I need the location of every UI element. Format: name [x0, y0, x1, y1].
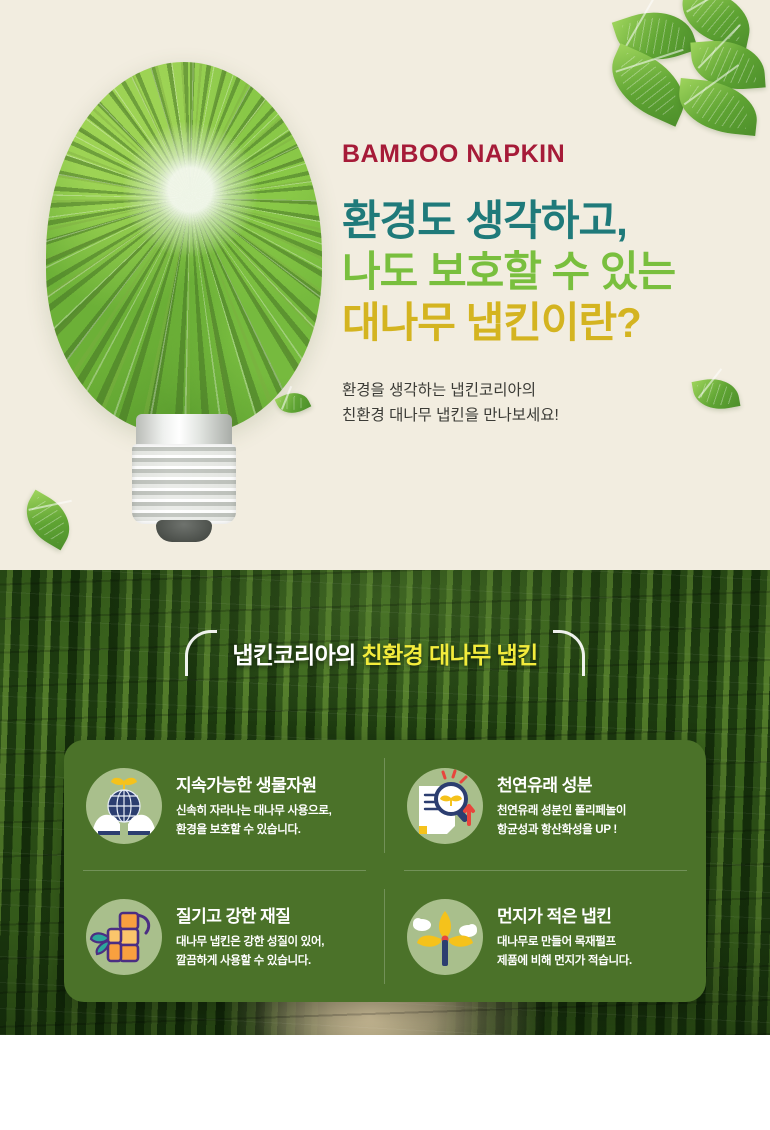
- hero-eyebrow: BAMBOO NAPKIN: [342, 140, 742, 169]
- dust-free-plant-icon: [407, 899, 483, 975]
- hero-headline: 환경도 생각하고, 나도 보호할 수 있는 대나무 냅킨이란?: [342, 195, 742, 349]
- globe-in-hands-icon: [86, 768, 162, 844]
- feature-card-text: 천연유래 성분 천연유래 성분인 폴리페놀이 항균성과 항산화성을 UP !: [497, 771, 692, 840]
- bamboo-forest-image: [46, 62, 322, 434]
- lightbulb-illustration: [28, 62, 328, 532]
- feature-card: 질기고 강한 재질 대나무 냅킨은 강한 성질이 있어, 깔끔하게 사용할 수 …: [64, 871, 385, 1002]
- leaf-branch-decoration: [596, 0, 770, 144]
- feature-card: 먼지가 적은 냅킨 대나무로 만들어 목재펄프 제품에 비해 먼지가 적습니다.: [385, 871, 706, 1002]
- bamboo-stalk-icon: [86, 899, 162, 975]
- feature-card-title: 천연유래 성분: [497, 771, 692, 796]
- bottom-white-area: [0, 1035, 770, 1130]
- leaf-icon: [676, 78, 761, 136]
- lightbulb-glass: [46, 62, 322, 434]
- lightbulb-screw-base: [132, 444, 236, 524]
- feature-card-title: 먼지가 적은 냅킨: [497, 902, 692, 927]
- magnifier-document-icon: [407, 768, 483, 844]
- hero-subtitle-line-2: 친환경 대나무 냅킨을 만나보세요!: [342, 404, 742, 429]
- feature-card-title: 질기고 강한 재질: [176, 902, 371, 927]
- feature-card-title: 지속가능한 생물자원: [176, 771, 371, 796]
- promo-page: BAMBOO NAPKIN 환경도 생각하고, 나도 보호할 수 있는 대나무 …: [0, 0, 770, 1130]
- hero-text-block: BAMBOO NAPKIN 환경도 생각하고, 나도 보호할 수 있는 대나무 …: [342, 140, 742, 428]
- feature-panel: 지속가능한 생물자원 신속히 자라나는 대나무 사용으로, 환경을 보호할 수 …: [64, 740, 706, 1002]
- section-title: 냅킨코리아의 친환경 대나무 냅킨: [185, 636, 585, 670]
- feature-card-desc-2: 깔끔하게 사용할 수 있습니다.: [176, 952, 371, 971]
- feature-card-desc-2: 제품에 비해 먼지가 적습니다.: [497, 952, 692, 971]
- leaf-icon: [15, 490, 80, 551]
- feature-card-text: 지속가능한 생물자원 신속히 자라나는 대나무 사용으로, 환경을 보호할 수 …: [176, 771, 371, 840]
- feature-card-desc-1: 천연유래 성분인 폴리페놀이: [497, 802, 692, 821]
- section-title-plain: 냅킨코리아의: [232, 642, 355, 668]
- feature-card: 천연유래 성분 천연유래 성분인 폴리페놀이 항균성과 항산화성을 UP !: [385, 740, 706, 871]
- lightbulb-contact-tip: [156, 520, 212, 542]
- feature-card: 지속가능한 생물자원 신속히 자라나는 대나무 사용으로, 환경을 보호할 수 …: [64, 740, 385, 871]
- hero-section: BAMBOO NAPKIN 환경도 생각하고, 나도 보호할 수 있는 대나무 …: [0, 0, 770, 570]
- feature-card-desc-1: 신속히 자라나는 대나무 사용으로,: [176, 802, 371, 821]
- feature-card-desc-1: 대나무로 만들어 목재펄프: [497, 933, 692, 952]
- feature-card-desc-2: 환경을 보호할 수 있습니다.: [176, 821, 371, 840]
- section-title-highlight: 친환경 대나무 냅킨: [362, 642, 538, 668]
- hero-subtitle: 환경을 생각하는 냅킨코리아의 친환경 대나무 냅킨을 만나보세요!: [342, 379, 742, 429]
- feature-card-text: 먼지가 적은 냅킨 대나무로 만들어 목재펄프 제품에 비해 먼지가 적습니다.: [497, 902, 692, 971]
- feature-card-desc-1: 대나무 냅킨은 강한 성질이 있어,: [176, 933, 371, 952]
- headline-line-3: 대나무 냅킨이란?: [342, 297, 742, 348]
- feature-card-text: 질기고 강한 재질 대나무 냅킨은 강한 성질이 있어, 깔끔하게 사용할 수 …: [176, 902, 371, 971]
- hero-subtitle-line-1: 환경을 생각하는 냅킨코리아의: [342, 379, 742, 404]
- feature-card-desc-2: 항균성과 항산화성을 UP !: [497, 821, 692, 840]
- section-heading: 냅킨코리아의 친환경 대나무 냅킨: [185, 630, 585, 688]
- headline-line-2: 나도 보호할 수 있는: [342, 246, 742, 297]
- headline-line-1: 환경도 생각하고,: [342, 195, 742, 246]
